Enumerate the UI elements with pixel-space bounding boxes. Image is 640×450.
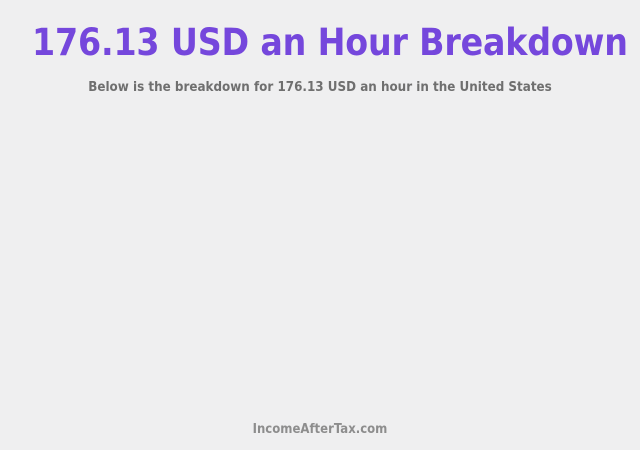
breakdown-content-area (0, 96, 640, 422)
page-subtitle: Below is the breakdown for 176.13 USD an… (26, 65, 615, 96)
site-watermark: IncomeAfterTax.com (32, 422, 608, 438)
page-header: 176.13 USD an Hour Breakdown Below is th… (0, 0, 640, 96)
page-root: 176.13 USD an Hour Breakdown Below is th… (0, 0, 640, 450)
page-title: 176.13 USD an Hour Breakdown (32, 21, 608, 65)
page-footer: IncomeAfterTax.com (0, 422, 640, 450)
